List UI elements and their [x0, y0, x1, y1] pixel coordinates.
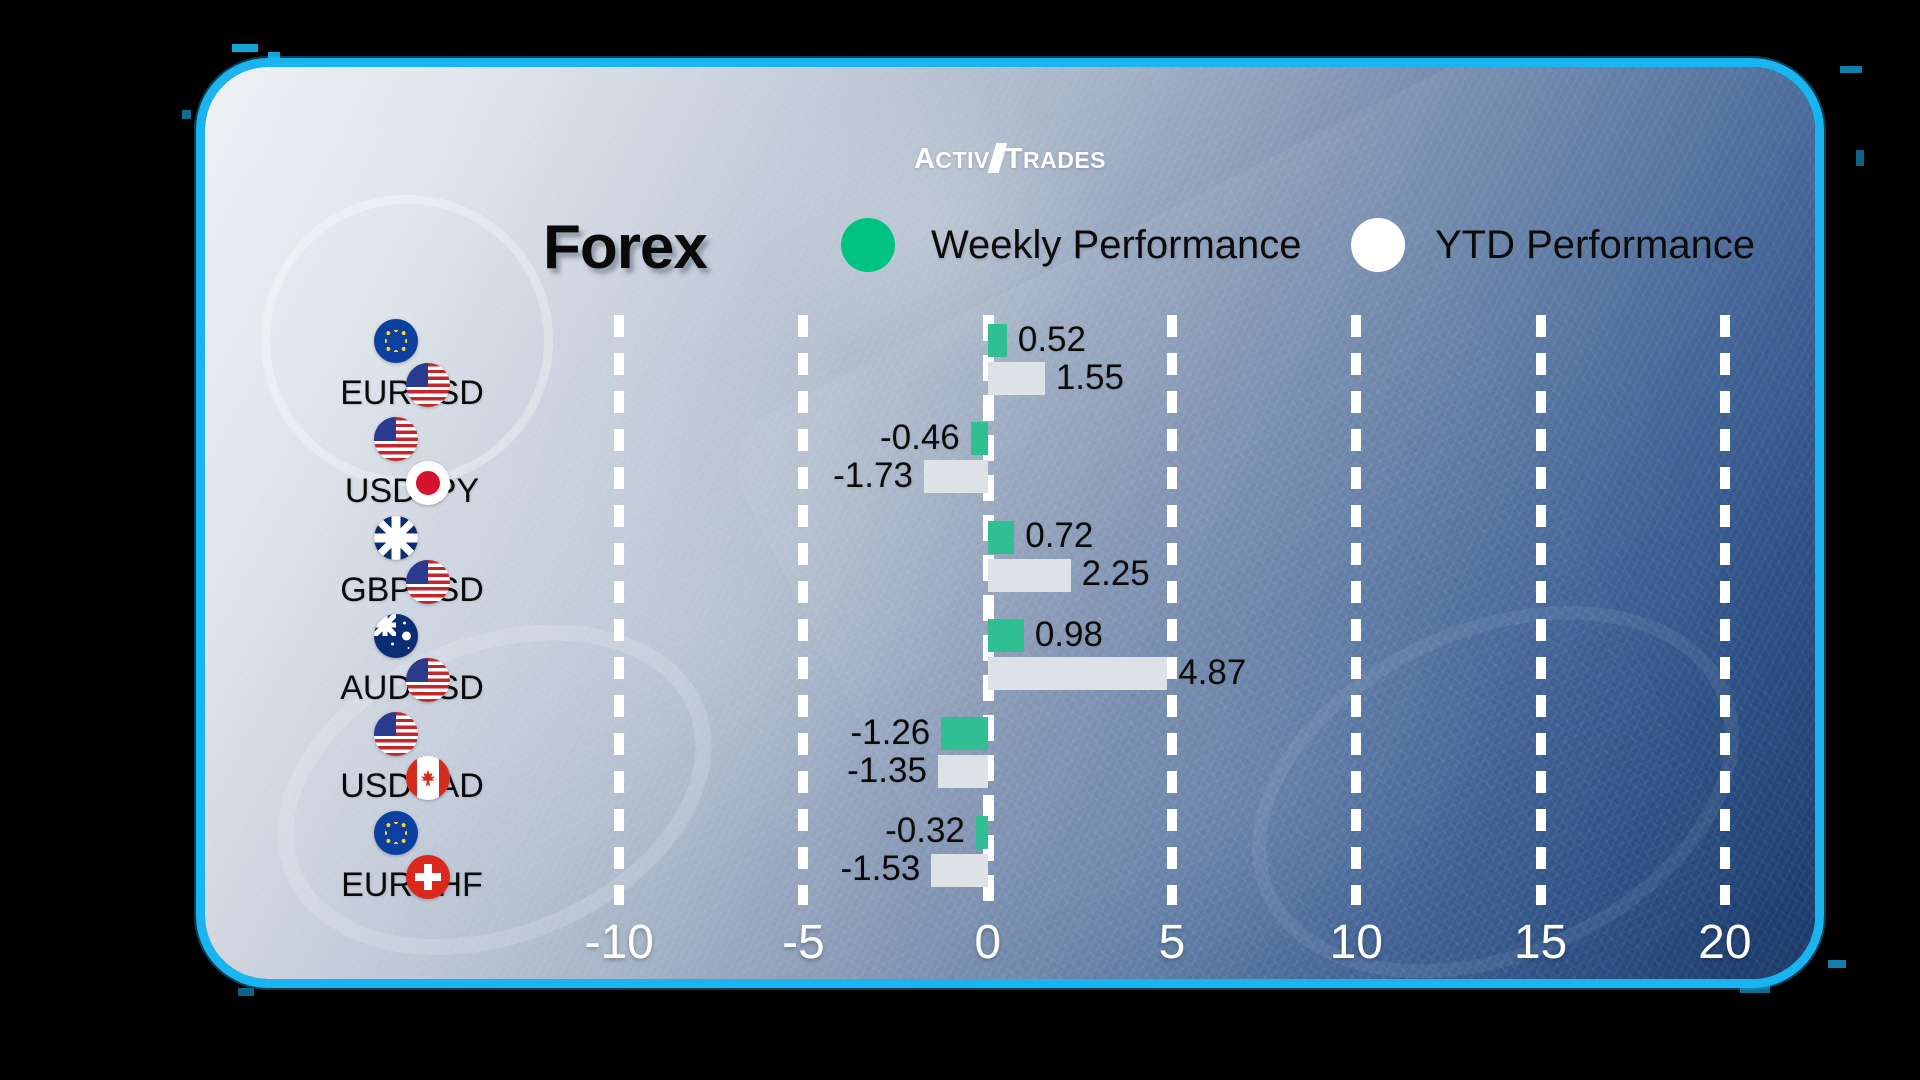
y-axis-label-usdjpy: USDJPY — [297, 417, 527, 511]
currency-pair-flags — [297, 516, 527, 566]
y-axis-label-eurusd: EURUSD — [297, 319, 527, 413]
x-tick-label: -5 — [733, 915, 873, 970]
flag-gb-icon — [374, 516, 418, 560]
y-axis-label-usdcad: USDCAD — [297, 712, 527, 806]
activtrades-logo: ACTIVTRADES — [205, 143, 1815, 176]
edge-artifact — [1840, 66, 1862, 73]
flag-us-icon — [406, 560, 450, 604]
bar-value-label: -1.53 — [841, 849, 921, 889]
currency-pair-flags — [297, 614, 527, 664]
card-content: ACTIVTRADES Forex Weekly Performance YTD… — [205, 67, 1815, 979]
x-tick-label: 5 — [1102, 915, 1242, 970]
currency-pair-flags — [297, 319, 527, 369]
logo-text-rades: RADES — [1023, 147, 1106, 173]
flag-us-icon — [374, 712, 418, 756]
y-axis-label-gbpusd: GBPUSD — [297, 516, 527, 610]
bar-eurusd-ytd[interactable]: 1.55 — [988, 362, 1045, 395]
x-tick-label: 20 — [1655, 915, 1795, 970]
edge-artifact — [238, 988, 254, 996]
table-row: -0.46-1.73 — [527, 413, 1817, 511]
bar-gbpusd-weekly[interactable]: 0.72 — [988, 521, 1015, 554]
bar-usdjpy-weekly[interactable]: -0.46 — [971, 422, 988, 455]
flag-eu-icon — [374, 319, 418, 363]
x-tick-label: -10 — [549, 915, 689, 970]
flag-eu-icon — [374, 811, 418, 855]
bar-audusd-weekly[interactable]: 0.98 — [988, 619, 1024, 652]
bar-value-label: -1.26 — [850, 713, 930, 753]
logo-text-ctiv: CTIV — [935, 147, 989, 173]
bar-value-label: 0.52 — [1018, 320, 1086, 360]
x-axis: -10-505101520 — [527, 915, 1817, 977]
bar-usdcad-ytd[interactable]: -1.35 — [938, 755, 988, 788]
page-title: Forex — [543, 212, 707, 283]
edge-artifact — [1828, 960, 1846, 968]
legend-marker-ytd-icon — [1351, 218, 1405, 272]
flag-us-icon — [406, 658, 450, 702]
flag-us-icon — [406, 363, 450, 407]
flag-ca-icon — [406, 756, 450, 800]
bar-eurusd-weekly[interactable]: 0.52 — [988, 324, 1007, 357]
legend-marker-weekly-icon — [841, 218, 895, 272]
legend-label-ytd: YTD Performance — [1435, 223, 1755, 268]
x-axis-label: % Performance — [205, 981, 1815, 988]
y-axis-label-eurchf: EURCHF — [297, 811, 527, 905]
table-row: 0.521.55 — [527, 315, 1817, 413]
bar-value-label: 0.98 — [1035, 615, 1103, 655]
flag-jp-icon — [406, 461, 450, 505]
bar-value-label: 2.25 — [1082, 554, 1150, 594]
bar-value-label: 1.55 — [1056, 358, 1124, 398]
bar-value-label: -0.32 — [885, 811, 965, 851]
bar-eurchf-ytd[interactable]: -1.53 — [931, 854, 987, 887]
table-row: -0.32-1.53 — [527, 807, 1817, 905]
bar-gbpusd-ytd[interactable]: 2.25 — [988, 559, 1071, 592]
table-row: 0.722.25 — [527, 512, 1817, 610]
table-row: -1.26-1.35 — [527, 708, 1817, 806]
bar-value-label: -0.46 — [880, 418, 960, 458]
flag-us-icon — [374, 417, 418, 461]
x-tick-label: 15 — [1471, 915, 1611, 970]
x-tick-label: 0 — [918, 915, 1058, 970]
flag-ch-icon — [406, 855, 450, 899]
edge-artifact — [1856, 150, 1864, 166]
bar-value-label: 4.87 — [1178, 653, 1246, 693]
chart-header: Forex Weekly Performance YTD Performance — [205, 212, 1815, 282]
currency-pair-flags — [297, 811, 527, 861]
forex-performance-card: ACTIVTRADES Forex Weekly Performance YTD… — [196, 58, 1824, 988]
y-axis-label-audusd: AUDUSD — [297, 614, 527, 708]
bar-value-label: -1.73 — [833, 456, 913, 496]
currency-pair-flags — [297, 712, 527, 762]
legend-item-weekly[interactable]: Weekly Performance — [841, 218, 1302, 272]
bar-audusd-ytd[interactable]: 4.87 — [988, 657, 1167, 690]
currency-pair-flags — [297, 417, 527, 467]
logo-text-a: A — [914, 143, 935, 175]
bar-value-label: 0.72 — [1025, 516, 1093, 556]
legend-item-ytd[interactable]: YTD Performance — [1351, 218, 1755, 272]
edge-artifact — [182, 110, 191, 119]
bar-chart-plot-area: 0.521.55-0.46-1.730.722.250.984.87-1.26-… — [527, 315, 1817, 905]
table-row: 0.984.87 — [527, 610, 1817, 708]
bar-eurchf-weekly[interactable]: -0.32 — [976, 816, 988, 849]
bar-usdcad-weekly[interactable]: -1.26 — [941, 717, 987, 750]
bar-usdjpy-ytd[interactable]: -1.73 — [924, 460, 988, 493]
screenshot-root: ACTIVTRADES Forex Weekly Performance YTD… — [0, 0, 1920, 1080]
x-tick-label: 10 — [1286, 915, 1426, 970]
legend-label-weekly: Weekly Performance — [931, 223, 1302, 268]
edge-artifact — [232, 44, 258, 52]
logo-text-t: T — [1005, 143, 1023, 175]
flag-au-icon — [374, 614, 418, 658]
bar-value-label: -1.35 — [847, 751, 927, 791]
